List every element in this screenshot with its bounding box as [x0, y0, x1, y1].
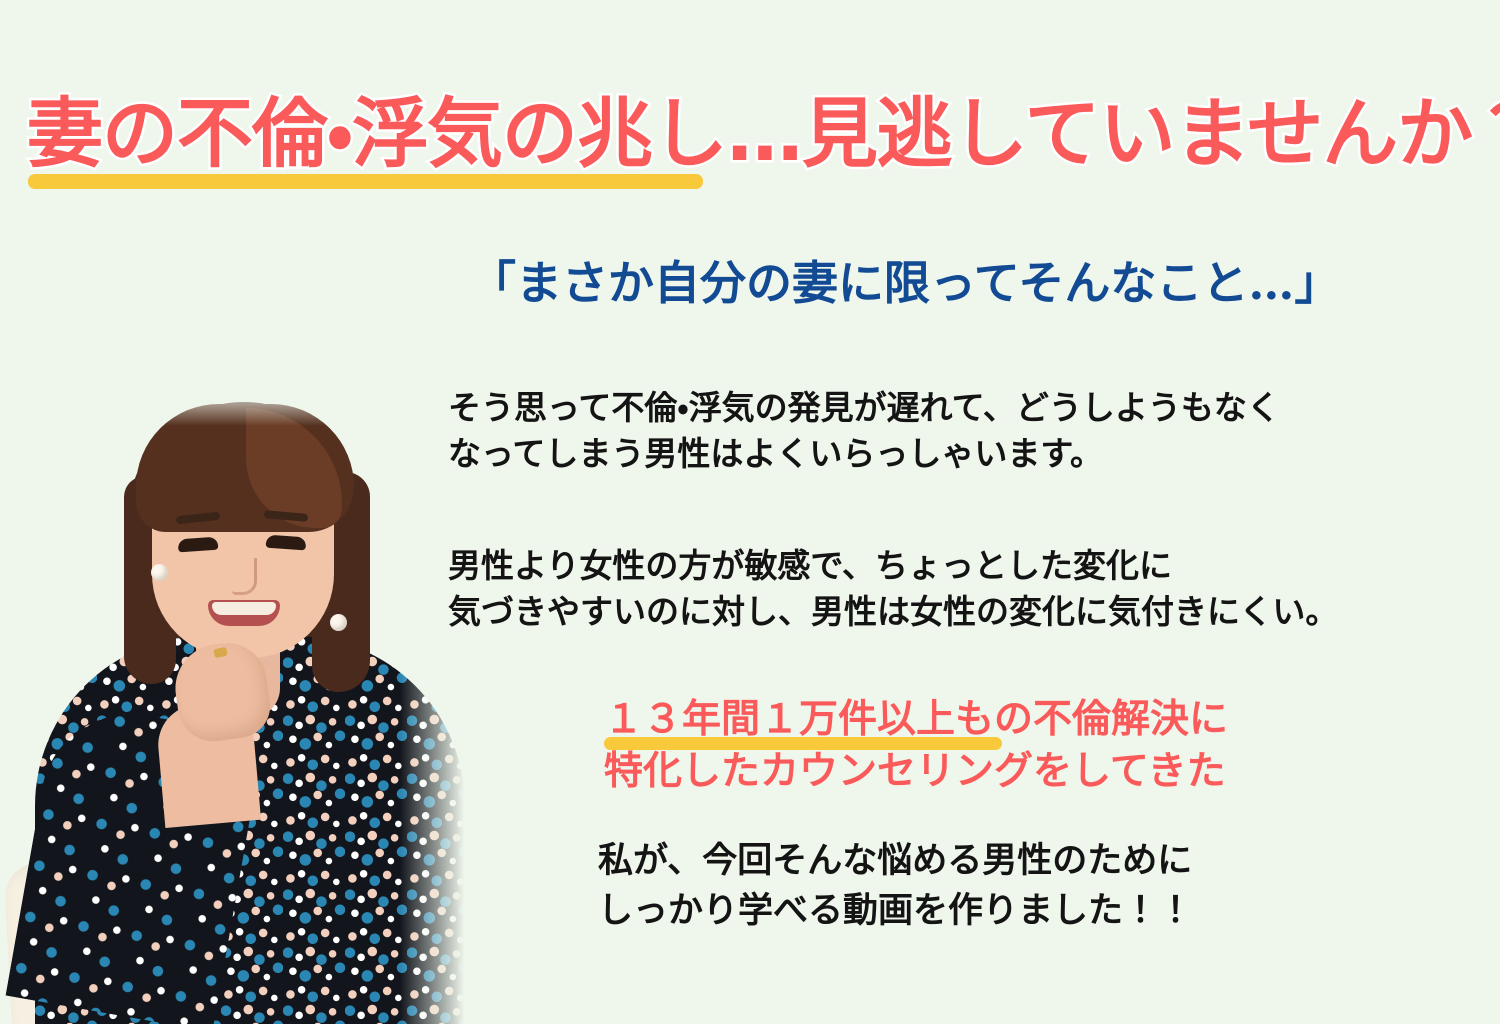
body-paragraph-2: 男性より女性の方が敏感で、ちょっとした変化に 気づきやすいのに対し、男性は女性の… [448, 543, 1338, 634]
mouth-shape [208, 600, 280, 626]
photo-right-fade [400, 386, 470, 1024]
landing-page-hero: 妻の不倫・浮気の兆し…見逃していませんか？ 「まさか自分の妻に限ってそんなこと…… [0, 0, 1500, 1024]
body-paragraph-1: そう思って不倫・浮気の発見が遅れて、どうしようもなく なってしまう男性はよくいら… [448, 385, 1280, 476]
counselor-photo [0, 386, 470, 1024]
page-headline: 妻の不倫・浮気の兆し…見逃していませんか？ [27, 96, 1500, 172]
pearl-earring-left [151, 564, 168, 581]
eye-right-shape [266, 535, 307, 551]
body-paragraph-3: 私が、今回そんな悩める男性のために しっかり学べる動画を作りました！！ [598, 836, 1193, 935]
page-subtitle: 「まさか自分の妻に限ってそんなこと…」 [470, 258, 1340, 309]
nose-shape [232, 558, 257, 595]
pearl-earring-right [330, 614, 347, 631]
teeth-shape [212, 602, 276, 615]
eye-left-shape [178, 537, 219, 553]
highlight-underline [604, 737, 1002, 750]
